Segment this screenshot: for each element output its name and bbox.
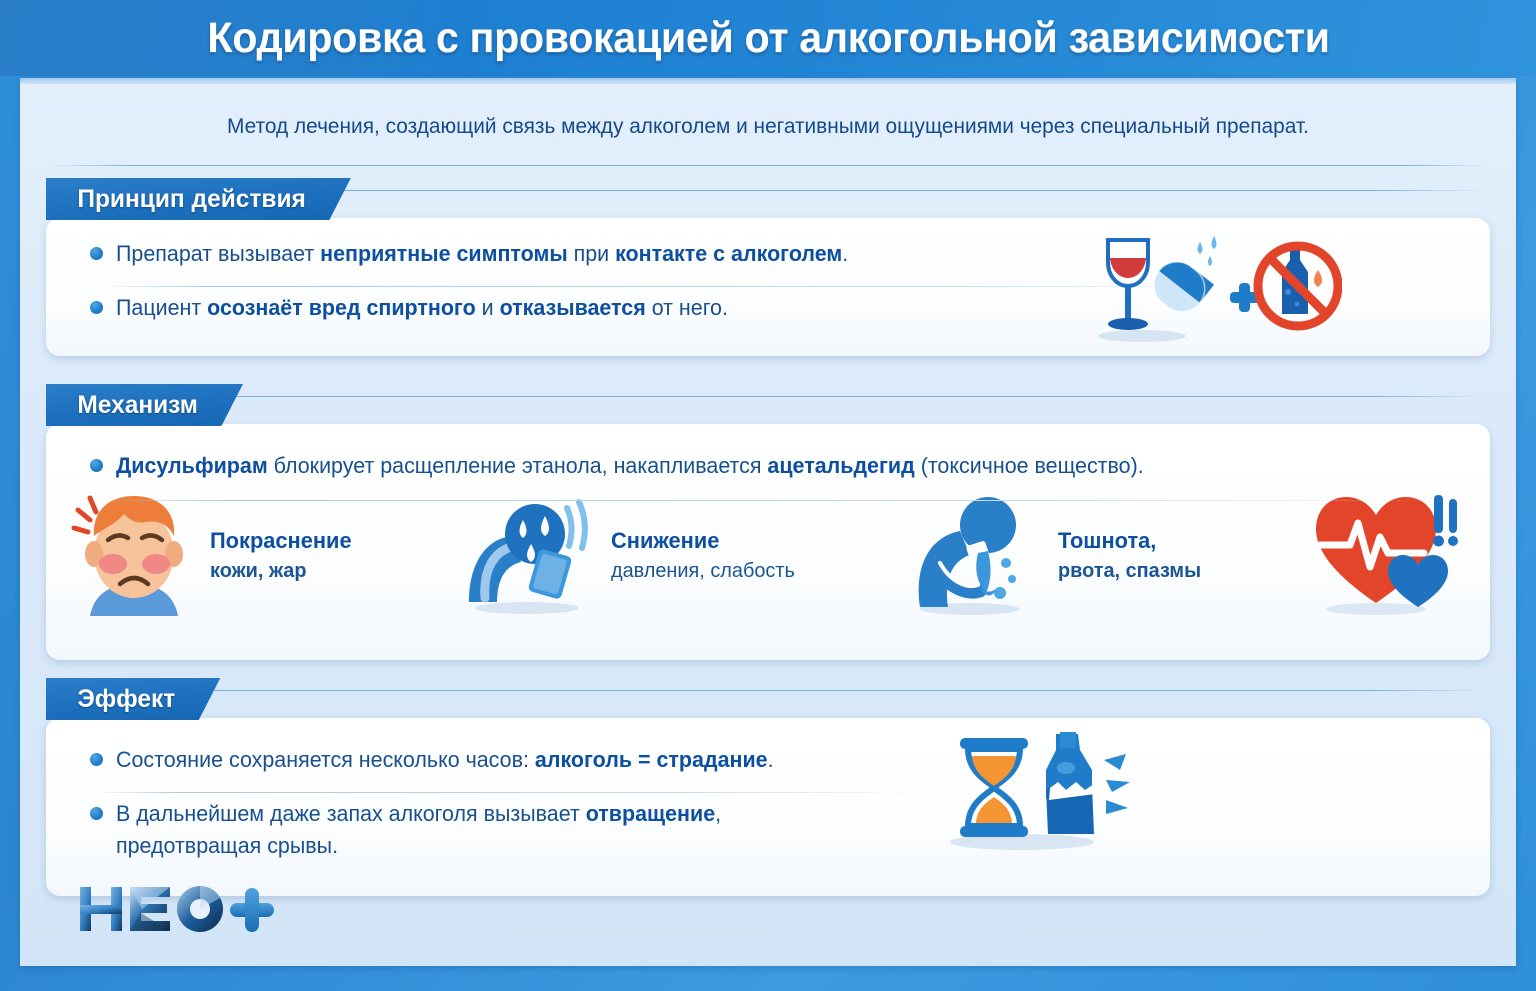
section-tab-mechanism[interactable]: Механизм — [46, 384, 243, 426]
bullet-item: В дальнейшем даже запах алкоголя вызывае… — [46, 776, 1490, 862]
page-title: Кодировка с провокацией от алкогольной з… — [207, 14, 1329, 63]
logo-letter-e — [130, 887, 170, 931]
section-principle: Принцип действия Препарат вызывает непри… — [46, 178, 1490, 356]
logo-letter-n — [80, 887, 122, 931]
bullet-item: Дисульфирам блокирует расщепление этанол… — [46, 424, 1490, 482]
dizzy-person-icon — [461, 490, 601, 621]
flushed-face-icon — [68, 488, 200, 623]
vomiting-person-icon — [906, 489, 1048, 622]
principle-icon-group — [1082, 226, 1342, 353]
bullet-dot-icon — [90, 807, 103, 820]
symptom-label: Тошнота, рвота, спазмы — [1058, 526, 1201, 586]
broken-bottle-icon — [1046, 732, 1130, 834]
bullet-text: Пациент осознаёт вред спиртного и отказы… — [116, 292, 728, 324]
pill-capsule-icon — [1145, 253, 1214, 321]
symptom-list: Покраснение кожи, жар — [46, 482, 1490, 623]
logo-plus-icon — [230, 888, 274, 932]
section-mechanism: Механизм Дисульфирам блокирует расщеплен… — [46, 384, 1490, 660]
intro-divider — [46, 165, 1490, 166]
bullet-dot-icon — [90, 459, 103, 472]
wine-glass-icon — [1108, 240, 1148, 330]
bullet-dot-icon — [90, 247, 103, 260]
brand-logo — [78, 884, 278, 936]
symptom-item: Покраснение кожи, жар — [68, 488, 356, 623]
card-mechanism: Дисульфирам блокирует расщепление этанол… — [46, 424, 1490, 660]
bullet-dot-icon — [90, 301, 103, 314]
bullet-text: Дисульфирам блокирует расщепление этанол… — [116, 450, 1144, 482]
symptom-label: Покраснение кожи, жар — [210, 526, 352, 586]
neo-plus-logo-icon — [78, 883, 278, 937]
card-divider — [94, 500, 1430, 501]
section-tab-principle[interactable]: Принцип действия — [46, 178, 351, 220]
intro-text: Метод лечения, создающий связь между алк… — [42, 114, 1493, 139]
card-effect: Состояние сохраняется несколько часов: а… — [46, 718, 1490, 896]
main-panel: Метод лечения, создающий связь между алк… — [20, 78, 1516, 966]
section-tab-effect[interactable]: Эффект — [46, 678, 220, 720]
bullet-text: Состояние сохраняется несколько часов: а… — [116, 744, 774, 776]
effect-icon-group — [926, 726, 1156, 857]
bullet-item: Состояние сохраняется несколько часов: а… — [46, 718, 1490, 776]
bullet-text: Препарат вызывает неприятные симптомы пр… — [116, 238, 848, 270]
section-rule — [56, 396, 1484, 397]
symptom-item: Тошнота, рвота, спазмы — [906, 489, 1205, 622]
header-bar: Кодировка с провокацией от алкогольной з… — [0, 0, 1536, 76]
no-alcohol-icon — [1256, 244, 1340, 328]
bullet-dot-icon — [90, 753, 103, 766]
symptom-label: Снижение давления, слабость — [611, 526, 795, 586]
logo-letter-o — [177, 886, 223, 932]
bullet-text: В дальнейшем даже запах алкоголя вызывае… — [116, 798, 857, 862]
symptom-item — [1310, 489, 1460, 622]
heartbeat-icon — [1310, 489, 1460, 622]
section-effect: Эффект Состояние сохраняется несколько ч… — [46, 678, 1490, 896]
section-rule — [56, 690, 1484, 691]
card-principle: Препарат вызывает неприятные симптомы пр… — [46, 218, 1490, 356]
symptom-item: Снижение давления, слабость — [461, 490, 801, 621]
hourglass-icon — [960, 738, 1028, 837]
